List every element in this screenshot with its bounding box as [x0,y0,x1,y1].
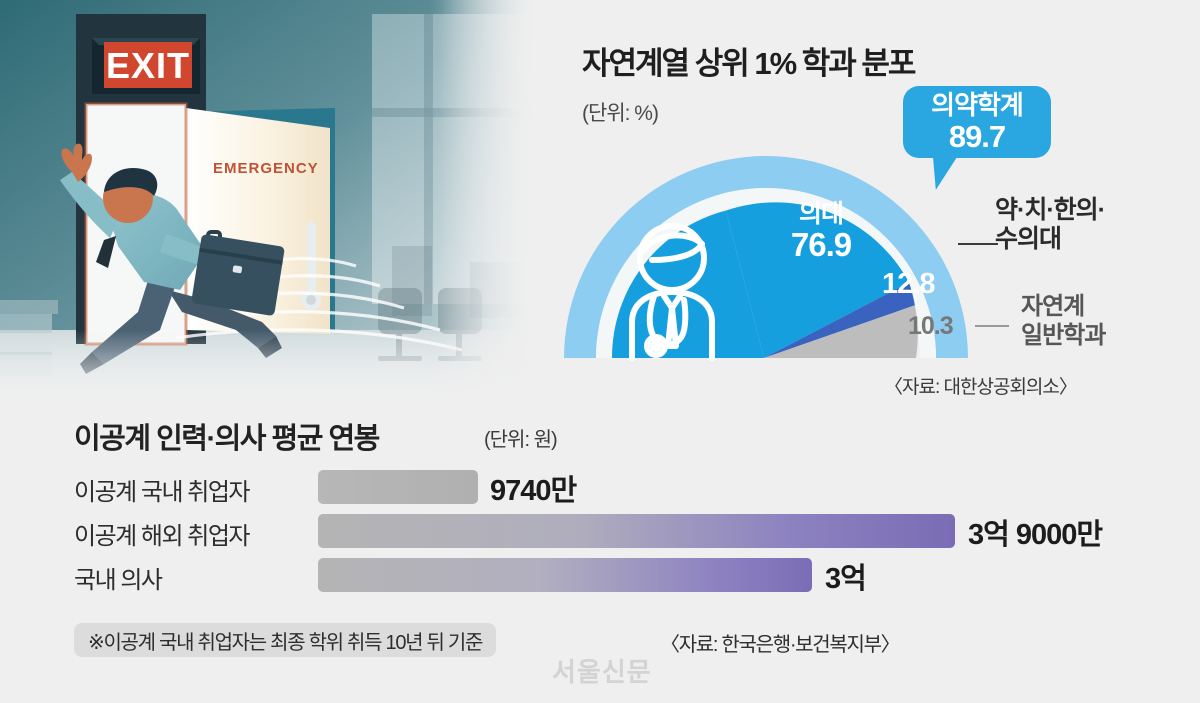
pie-title: 자연계열 상위 1% 학과 분포 [582,38,914,83]
bar-value-label: 9740만 [490,467,576,509]
bar-chart-unit: (단위: 원) [484,423,557,452]
bar-fill [318,514,955,548]
bar-fill [318,558,812,592]
label-pharma: 약·치·한의· 수의대 [995,196,1105,254]
leader-line-natural [975,325,1009,327]
bar-rows: 이공계 국내 취업자 9740만 이공계 해외 취업자 3억 9000만 국내 … [0,470,1200,602]
door-emergency-text: EMERGENCY [213,160,319,177]
label-natural-line2: 일반학과 [1021,321,1105,350]
illustration-office-exit: EMERGENCY EXIT [0,0,560,410]
exit-sign-text: EXIT [106,45,190,86]
slice-value-medical: 76.9 [766,226,876,264]
slice-value-pharma: 12.8 [882,268,934,301]
bar-row-label: 이공계 해외 취업자 [74,516,249,551]
bar-row-label: 이공계 국내 취업자 [74,472,249,507]
slice-label-medical: 의대 [766,194,876,230]
bar-fill [318,470,478,504]
label-pharma-line1: 약·치·한의· [995,196,1105,225]
callout-label: 의약학계 [903,86,1051,120]
label-natural: 자연계 일반학과 [1021,292,1105,350]
label-pharma-line2: 수의대 [995,225,1105,254]
slice-value-natural: 10.3 [908,312,953,341]
leader-line-pharma [958,243,998,245]
pie-unit-label: (단위: %) [582,97,658,127]
bar-source: 〈자료: 한국은행·보건복지부〉 [660,628,899,657]
callout-medical-total: 의약학계 89.7 [903,86,1051,158]
infographic-page: EMERGENCY EXIT [0,0,1200,703]
bar-row: 국내 의사 3억 [0,558,1200,596]
bar-row-label: 국내 의사 [74,560,162,595]
bar-row: 이공계 해외 취업자 3억 9000만 [0,514,1200,552]
watermark: 서울신문 [552,652,652,689]
exit-sign: EXIT [92,38,200,94]
semicircle-chart: 의대 76.9 12.8 10.3 [556,150,976,365]
bar-row: 이공계 국내 취업자 9740만 [0,470,1200,508]
bar-footnote: ※이공계 국내 취업자는 최종 학위 취득 10년 뒤 기준 [74,623,496,657]
label-natural-line1: 자연계 [1021,292,1105,321]
pie-source: 〈자료: 대한상공회의소〉 [884,372,1077,399]
bar-value-label: 3억 9000만 [968,511,1102,553]
callout-value: 89.7 [903,120,1051,154]
illustration-bottom-fade [0,330,560,410]
bar-value-label: 3억 [825,555,866,597]
bar-chart-title: 이공계 인력·의사 평균 연봉 [74,415,379,457]
